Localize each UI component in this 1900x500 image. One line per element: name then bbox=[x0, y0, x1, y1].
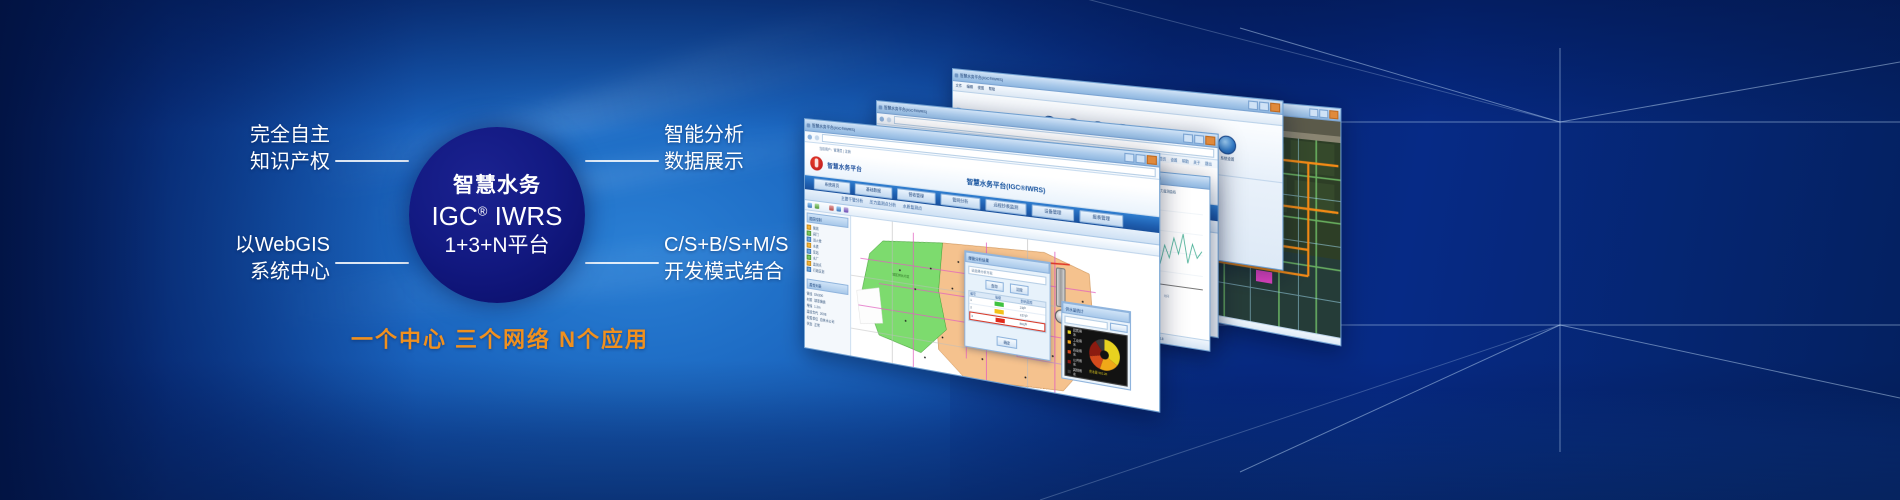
attr-val: DN300 bbox=[814, 292, 823, 297]
window-icon bbox=[879, 105, 883, 109]
window-title: 智慧水务平台(IGC®IWRS) bbox=[884, 104, 927, 114]
pie-chart: 居民用水 工业用水 商业用水 公共用水 其他用水 bbox=[1064, 325, 1127, 386]
close-button[interactable] bbox=[1205, 135, 1215, 145]
maximize-button[interactable] bbox=[1259, 101, 1269, 111]
hub-line-3: 1+3+N平台 bbox=[444, 235, 549, 256]
minimize-button[interactable] bbox=[1124, 152, 1134, 162]
maximize-button[interactable] bbox=[1319, 109, 1328, 118]
attr-val: 1.2m bbox=[814, 304, 820, 309]
dialog-query-button[interactable]: 查询 bbox=[985, 280, 1004, 292]
feature-line-2: 开发模式结合 bbox=[664, 259, 914, 286]
connector-line-bottom-right bbox=[585, 262, 659, 264]
ribbon-button-label: 系统设置 bbox=[1221, 154, 1235, 161]
hub-iwrs: IWRS bbox=[495, 201, 563, 231]
pan-icon[interactable] bbox=[808, 202, 812, 208]
layer-label: 管线 bbox=[813, 225, 819, 231]
feature-top-left: 完全自主 知识产权 bbox=[175, 122, 330, 176]
pie-filter-button[interactable] bbox=[1110, 323, 1128, 334]
pie-svg: 供水量 532.28 bbox=[1087, 329, 1127, 380]
dialog-clear-button[interactable]: 清除 bbox=[1010, 283, 1029, 296]
window-icon bbox=[955, 73, 959, 77]
legend-swatch-icon bbox=[1068, 330, 1071, 334]
legend-swatch-icon bbox=[1068, 359, 1071, 363]
feature-line-1: C/S+B/S+M/S bbox=[664, 232, 914, 259]
legend-swatch-icon bbox=[1068, 349, 1071, 353]
print-icon[interactable] bbox=[844, 207, 849, 213]
top-link[interactable]: 设置 bbox=[1170, 157, 1177, 163]
menu-item[interactable]: 编辑 bbox=[966, 85, 972, 91]
legend-label: 其他用水 bbox=[1073, 367, 1085, 378]
feature-line-2: 知识产权 bbox=[175, 149, 330, 176]
menu-item[interactable]: 帮助 bbox=[989, 87, 996, 93]
subnav-item[interactable]: 水质监测点 bbox=[903, 203, 922, 212]
window-controls[interactable] bbox=[1124, 152, 1157, 164]
layer-swatch-icon bbox=[807, 224, 811, 230]
attr-key: 埋深 bbox=[807, 302, 813, 308]
minimize-button[interactable] bbox=[1183, 133, 1193, 143]
zoom-out-icon[interactable] bbox=[822, 204, 827, 210]
level-swatch-icon bbox=[995, 308, 1004, 314]
legend-label: 商业用水 bbox=[1073, 348, 1085, 359]
maximize-button[interactable] bbox=[1194, 134, 1204, 144]
subnav-item[interactable]: 压力监测点分析 bbox=[870, 199, 896, 208]
window-controls[interactable] bbox=[1309, 108, 1338, 119]
close-button[interactable] bbox=[1270, 102, 1280, 112]
top-link[interactable]: 退出 bbox=[1205, 160, 1212, 166]
feature-line-2: 数据展示 bbox=[664, 149, 894, 176]
legend-swatch-icon bbox=[1068, 369, 1071, 373]
maximize-button[interactable] bbox=[1136, 153, 1146, 163]
connector-line-bottom-left bbox=[335, 262, 409, 264]
minimize-button[interactable] bbox=[1309, 108, 1318, 117]
window-title: 智慧水务平台(IGC®IWRS) bbox=[960, 72, 1003, 82]
feature-line-1: 智能分析 bbox=[664, 122, 894, 149]
feature-line-1: 完全自主 bbox=[175, 122, 330, 149]
tagline: 一个中心 三个网络 N个应用 bbox=[0, 322, 1000, 354]
feature-top-right: 智能分析 数据展示 bbox=[664, 122, 894, 176]
back-icon[interactable] bbox=[880, 116, 884, 121]
attr-val: 2008 bbox=[820, 311, 826, 316]
hub-line-2: IGC® IWRS bbox=[432, 203, 563, 229]
measure-icon[interactable] bbox=[836, 206, 841, 212]
connector-line-top-left bbox=[335, 160, 409, 162]
dialog-cell: 842户 bbox=[1019, 321, 1045, 329]
ribbon-button[interactable]: 系统设置 bbox=[1217, 134, 1239, 162]
zoom-in-icon[interactable] bbox=[815, 203, 819, 209]
menu-item[interactable]: 文件 bbox=[956, 83, 962, 89]
minimize-button[interactable] bbox=[1248, 100, 1258, 110]
top-link[interactable]: 关于 bbox=[1193, 159, 1200, 165]
legend-label: 居民用水 bbox=[1073, 328, 1085, 339]
registered-icon: ® bbox=[478, 203, 488, 218]
legend-label: 工业用水 bbox=[1073, 338, 1085, 349]
top-link[interactable]: 帮助 bbox=[1182, 158, 1189, 164]
hub-line-1: 智慧水务 bbox=[453, 175, 541, 196]
feature-line-1: 以WebGIS bbox=[160, 232, 330, 259]
connector-line-top-right bbox=[585, 160, 659, 162]
window-controls[interactable] bbox=[1183, 133, 1215, 145]
menu-item[interactable]: 视图 bbox=[978, 86, 985, 92]
legend-swatch-icon bbox=[1068, 340, 1071, 344]
feature-bottom-left: 以WebGIS 系统中心 bbox=[160, 232, 330, 286]
dialog-cell: 3 bbox=[970, 314, 995, 322]
identify-icon[interactable] bbox=[829, 205, 834, 211]
subnav-item[interactable]: 主要干管分析 bbox=[841, 196, 863, 205]
close-button[interactable] bbox=[1329, 110, 1338, 119]
level-swatch-icon bbox=[995, 301, 1004, 307]
feature-bottom-right: C/S+B/S+M/S 开发模式结合 bbox=[664, 232, 914, 286]
platform-title: 智慧水务平台(IGC®IWRS) bbox=[967, 175, 1046, 195]
attr-key: 管径 bbox=[807, 290, 813, 296]
close-button[interactable] bbox=[1147, 154, 1157, 164]
attr-key: 材质 bbox=[807, 296, 813, 302]
window-controls[interactable] bbox=[1248, 100, 1280, 112]
feature-line-2: 系统中心 bbox=[160, 259, 330, 286]
banner-stage: 管网影像图 bbox=[0, 0, 1900, 500]
pie-panel[interactable]: 供水量统计 居民用水 工业用水 商业用水 bbox=[1061, 301, 1131, 391]
globe-icon bbox=[1218, 134, 1236, 155]
hub-igc: IGC bbox=[432, 201, 478, 231]
hub-circle: 智慧水务 IGC® IWRS 1+3+N平台 bbox=[409, 127, 585, 303]
